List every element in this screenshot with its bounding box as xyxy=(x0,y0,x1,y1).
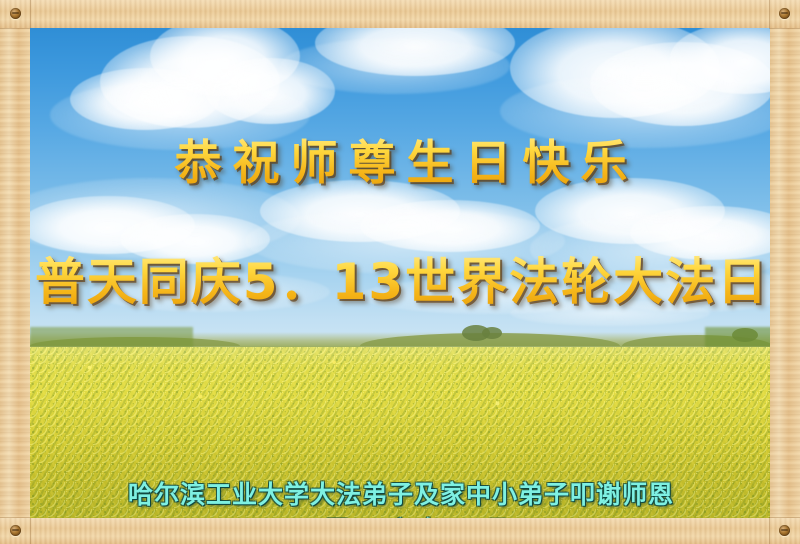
frame-stile-left xyxy=(0,0,30,544)
screw-head-icon xyxy=(10,8,21,19)
screw-head-icon xyxy=(10,525,21,536)
greeting-card: 恭祝师尊生日快乐 普天同庆5．13世界法轮大法日 哈尔滨工业大学大法弟子及家中小… xyxy=(0,0,800,544)
frame-seam xyxy=(0,28,30,29)
frame-seam xyxy=(0,517,30,518)
photo-area: 恭祝师尊生日快乐 普天同庆5．13世界法轮大法日 哈尔滨工业大学大法弟子及家中小… xyxy=(30,28,772,518)
signature-line-2: 二零一六年五月 xyxy=(30,511,772,518)
frame-seam xyxy=(769,0,770,28)
tree-clump xyxy=(482,327,502,339)
frame-seam xyxy=(769,518,770,544)
frame-rail-top xyxy=(0,0,800,28)
headline-line-1: 恭祝师尊生日快乐 xyxy=(30,124,772,193)
field-edge-right xyxy=(705,327,772,347)
screw-head-icon xyxy=(779,8,790,19)
frame-seam xyxy=(30,0,31,28)
screw-head-icon xyxy=(779,525,790,536)
frame-seam xyxy=(30,518,31,544)
frame-rail-bottom xyxy=(0,518,800,544)
field-edge-left xyxy=(30,327,193,347)
signature-line-1: 哈尔滨工业大学大法弟子及家中小弟子叩谢师恩 xyxy=(30,475,772,511)
frame-seam xyxy=(769,28,800,29)
frame-seam xyxy=(769,517,800,518)
frame-stile-right xyxy=(770,0,800,544)
cloud-haze xyxy=(280,38,510,94)
headline-line-2: 普天同庆5．13世界法轮大法日 xyxy=(30,242,772,314)
